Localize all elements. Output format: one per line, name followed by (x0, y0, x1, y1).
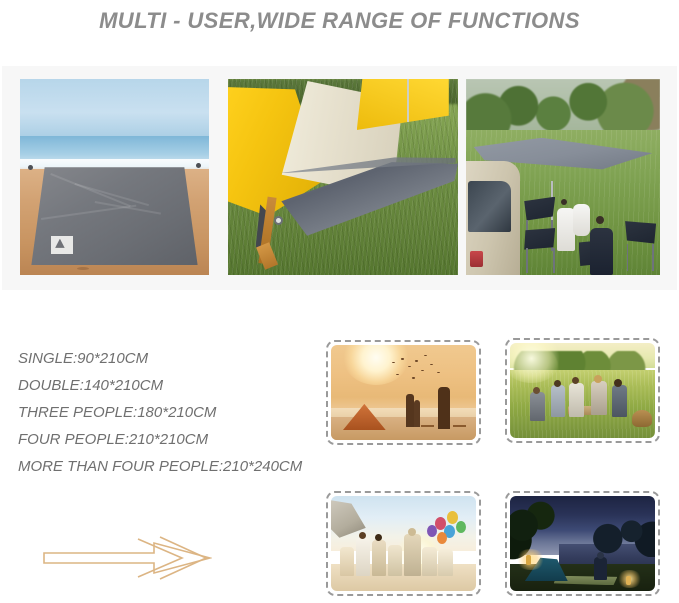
chair-leg (526, 248, 527, 273)
size-options-list: SINGLE:90*210CM DOUBLE:140*210CM THREE P… (18, 345, 318, 480)
car-awning-photo (466, 79, 660, 275)
right-arrow-svg (42, 533, 212, 583)
night-lakeside-photo (505, 491, 660, 596)
chair-leg (553, 248, 554, 273)
person-silhouette (414, 400, 421, 427)
picnic-basket (632, 410, 652, 427)
adult-figure (590, 228, 613, 275)
car-rear-window (468, 181, 511, 232)
bird-silhouette (401, 358, 404, 359)
brand-logo-patch (51, 236, 73, 255)
page-title: MULTI - USER,WIDE RANGE OF FUNCTIONS (0, 0, 679, 42)
size-line: FOUR PEOPLE:210*210CM (18, 426, 318, 453)
person-figure (612, 385, 628, 417)
balloon (437, 532, 447, 544)
size-line: DOUBLE:140*210CM (18, 372, 318, 399)
lantern-body (526, 555, 531, 565)
person-silhouette (438, 387, 450, 429)
bird-silhouette (415, 360, 418, 361)
tarp-crease (74, 183, 148, 206)
sunset-camping-photo (326, 340, 481, 445)
person-figure (551, 385, 566, 417)
gray-tarp (31, 167, 197, 265)
lantern-body (626, 576, 631, 585)
person-figure (569, 383, 584, 417)
camp-stool (421, 425, 434, 427)
tarp-crease (51, 173, 132, 207)
person-figure (388, 545, 403, 575)
chair-leg (627, 244, 628, 271)
arrow-shaft-outline (44, 543, 210, 573)
size-line: MORE THAN FOUR PEOPLE:210*240CM (18, 453, 318, 480)
page-title-text: MULTI - USER,WIDE RANGE OF FUNCTIONS (99, 8, 580, 34)
tent-footprint-photo (228, 79, 458, 275)
bird-silhouette (424, 355, 427, 356)
person-figure (404, 534, 421, 576)
car-tail-light (470, 251, 484, 267)
person-head (554, 380, 561, 387)
person-figure (594, 557, 607, 580)
person-figure (422, 547, 437, 576)
beach-party-photo (326, 491, 481, 596)
person-head (533, 387, 540, 394)
bird-silhouette (412, 377, 415, 378)
person-head (597, 552, 604, 559)
person-figure (340, 547, 355, 576)
person-head (359, 532, 366, 539)
sky-region (20, 79, 209, 140)
child-head (561, 199, 567, 205)
child-figure (573, 204, 590, 235)
tent-pole (407, 79, 409, 122)
tree-silhouettes-right (591, 511, 655, 557)
chair-leg (652, 244, 653, 271)
right-arrow-icon (42, 533, 212, 583)
person-figure (591, 381, 607, 415)
tarp-crease (41, 205, 137, 220)
size-line: THREE PEOPLE:180*210CM (18, 399, 318, 426)
person-silhouette (406, 394, 413, 426)
camp-stool (453, 425, 466, 427)
hero-photo-strip (2, 66, 677, 290)
meadow-picnic-photo (505, 338, 660, 443)
person-figure (438, 549, 453, 576)
balloon (456, 521, 466, 533)
person-head (375, 534, 382, 541)
size-line: SINGLE:90*210CM (18, 345, 318, 372)
balloon (427, 525, 437, 537)
bird-silhouette (437, 372, 440, 373)
person-figure (356, 538, 371, 576)
bird-silhouette (421, 370, 424, 371)
beach-tarp-photo (20, 79, 209, 275)
tarp-corner-peg (28, 165, 33, 170)
person-figure (372, 540, 387, 576)
person-figure (530, 392, 545, 421)
